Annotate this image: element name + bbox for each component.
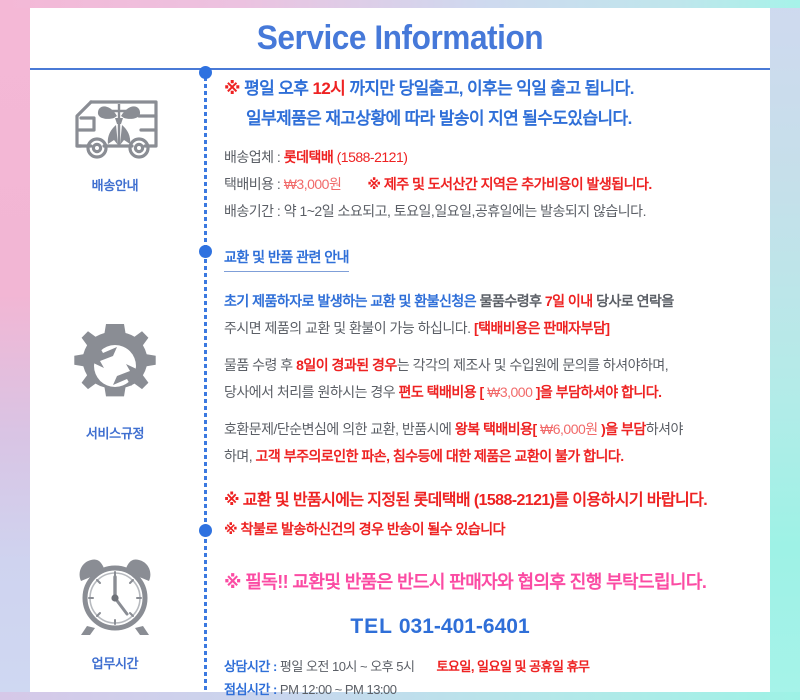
policy-p3-d: )을 부담 bbox=[598, 421, 646, 437]
lunch-label: 점심시간 : bbox=[224, 682, 280, 697]
policy-shipping-burden-tag: [택배비용은 판매자부담] bbox=[474, 320, 610, 336]
policy-p4-a: 하며, bbox=[224, 448, 256, 464]
timeline-dotted-line bbox=[204, 70, 207, 690]
delivery-line1-b: 평일 오후 bbox=[244, 79, 312, 98]
policy-p3-a: 호환문제/단순변심에 의한 교환, 반품시에 bbox=[224, 421, 455, 437]
delivery-section: ※ 평일 오후 12시 까지만 당일출고, 이후는 익일 출고 됩니다. 일부제… bbox=[224, 74, 776, 225]
timeline-dot-policy bbox=[199, 245, 212, 258]
rail-label-delivery: 배송안내 bbox=[30, 175, 200, 194]
carrier-label: 배송업체 : bbox=[224, 149, 284, 165]
policy-heading: 교환 및 반품 관련 안내 bbox=[224, 247, 349, 272]
tel-number[interactable]: 031-401-6401 bbox=[399, 615, 530, 638]
icon-rail: 배송안내 서비스규정 bbox=[30, 72, 200, 692]
policy-p1-line2: 주시면 제품의 교환 및 환불이 가능 하십니다. [택배비용은 판매자부담] bbox=[224, 315, 776, 342]
carrier-phone: (1588-2121) bbox=[333, 149, 407, 165]
fee-label: 택배비용 : bbox=[224, 176, 284, 192]
rail-label-policy: 서비스규정 bbox=[30, 423, 200, 442]
rail-item-policy: 서비스규정 bbox=[30, 320, 200, 442]
delivery-line-2: 일부제품은 재고상황에 따라 발송이 지연 될수도있습니다. bbox=[224, 104, 776, 134]
delivery-line2-text: 일부제품은 재고상황에 따라 발송이 지연 될수도있습니다. bbox=[246, 109, 632, 128]
policy-p2-line1: 물품 수령 후 8일이 경과된 경우는 각각의 제조사 및 수입원에 문의를 하… bbox=[224, 352, 776, 379]
tel-label: TEL bbox=[350, 615, 393, 638]
delivery-fee-row: 택배비용 : ₩3,000원※ 제주 및 도서산간 지역은 추가비용이 발생됩니… bbox=[224, 171, 776, 198]
delivery-truck-gift-icon bbox=[30, 90, 200, 169]
asterisk-mark-1: ※ bbox=[224, 79, 244, 98]
delivery-cutoff-time: 12시 bbox=[312, 79, 345, 98]
consult-hours-row: 상담시간 : 평일 오전 10시 ~ 오후 5시토요일, 일요일 및 공휴일 휴… bbox=[224, 655, 776, 678]
policy-p1-e: 주시면 제품의 교환 및 환불이 가능 하십니다. bbox=[224, 320, 474, 336]
policy-roundtrip-fee-value: ₩6,000원 bbox=[540, 421, 598, 437]
policy-designated-carrier-note: ※ 교환 및 반품시에는 지정된 롯데택배 (1588-2121)를 이용하시기… bbox=[224, 486, 776, 516]
policy-oneway-fee-value: ₩3,000 bbox=[487, 384, 532, 400]
policy-p1-line1: 초기 제품하자로 발생하는 교환 및 환불신청은 물품수령후 7일 이내 당사로… bbox=[224, 288, 776, 315]
fee-value: ₩3,000원 bbox=[284, 176, 342, 192]
page-title: Service Information bbox=[257, 19, 543, 58]
policy-p3-line2: 하며, 고객 부주의로인한 파손, 침수등에 대한 제품은 교환이 불가 합니다… bbox=[224, 443, 776, 470]
rail-item-delivery: 배송안내 bbox=[30, 90, 200, 194]
delivery-line1-d: 까지만 당일출고, 이후는 익일 출고 됩니다. bbox=[345, 79, 634, 98]
timeline-dot-hours bbox=[199, 524, 212, 537]
policy-oneway-fee-label: 편도 택배비용 [ bbox=[399, 384, 488, 400]
policy-return-window: 7일 이내 bbox=[545, 293, 593, 309]
policy-p1-d: 당사로 연락을 bbox=[593, 293, 674, 309]
must-read-notice: ※ 필독!! 교환및 반품은 반드시 판매자와 협의후 진행 부탁드립니다. bbox=[224, 565, 776, 599]
frame-gradient-left bbox=[0, 0, 30, 700]
policy-p3-e: 하셔야 bbox=[646, 421, 683, 437]
page-header: Service Information bbox=[30, 8, 770, 70]
policy-p1-a: 초기 제품하자로 발생하는 교환 및 환불신청은 bbox=[224, 293, 480, 309]
period-label: 배송기간 : bbox=[224, 203, 284, 219]
consult-value: 평일 오전 10시 ~ 오후 5시 bbox=[280, 659, 415, 674]
delivery-carrier-row: 배송업체 : 롯데택배 (1588-2121) bbox=[224, 144, 776, 171]
policy-cod-note: ※ 착불로 발송하신건의 경우 반송이 될수 있습니다 bbox=[224, 516, 776, 543]
content-column: ※ 평일 오후 12시 까지만 당일출고, 이후는 익일 출고 됩니다. 일부제… bbox=[224, 74, 776, 700]
rail-item-hours: 업무시간 bbox=[30, 550, 200, 672]
policy-p2-g: ]을 부담하셔야 합니다. bbox=[532, 384, 661, 400]
policy-p2-line2: 당사에서 처리를 원하시는 경우 편도 택배비용 [ ₩3,000 ]을 부담하… bbox=[224, 379, 776, 406]
hours-section: ※ 필독!! 교환및 반품은 반드시 판매자와 협의후 진행 부탁드립니다. T… bbox=[224, 565, 776, 700]
policy-p2-c: 는 각각의 제조사 및 수입원에 문의를 하셔야하며, bbox=[397, 357, 668, 373]
rail-label-hours: 업무시간 bbox=[30, 653, 200, 672]
policy-p2-a: 물품 수령 후 bbox=[224, 357, 296, 373]
policy-8day-limit: 8일이 경과된 경우 bbox=[296, 357, 397, 373]
delivery-period-row: 배송기간 : 약 1~2일 소요되고, 토요일,일요일,공휴일에는 발송되지 않… bbox=[224, 198, 776, 225]
policy-p2-d: 당사에서 처리를 원하시는 경우 bbox=[224, 384, 399, 400]
period-value: 약 1~2일 소요되고, 토요일,일요일,공휴일에는 발송되지 않습니다. bbox=[284, 203, 646, 219]
closed-days-note: 토요일, 일요일 및 공휴일 휴무 bbox=[414, 659, 589, 674]
service-information-page: Service Information bbox=[0, 0, 800, 700]
frame-gradient-top bbox=[0, 0, 800, 8]
policy-p1-b: 물품수령후 bbox=[480, 293, 545, 309]
delivery-line-1: ※ 평일 오후 12시 까지만 당일출고, 이후는 익일 출고 됩니다. bbox=[224, 74, 776, 104]
lunch-value: PM 12:00 ~ PM 13:00 bbox=[280, 682, 397, 697]
timeline-dot-delivery bbox=[199, 66, 212, 79]
policy-section: 교환 및 반품 관련 안내 초기 제품하자로 발생하는 교환 및 환불신청은 물… bbox=[224, 247, 776, 543]
gear-exchange-arrows-icon bbox=[30, 320, 200, 417]
policy-roundtrip-fee-label: 왕복 택배비용[ bbox=[455, 421, 540, 437]
fee-island-note: ※ 제주 및 도서산간 지역은 추가비용이 발생됩니다. bbox=[341, 176, 651, 192]
alarm-clock-icon bbox=[30, 550, 200, 647]
policy-damage-exclusion: 고객 부주의로인한 파손, 침수등에 대한 제품은 교환이 불가 합니다. bbox=[256, 448, 624, 464]
carrier-name: 롯데택배 bbox=[284, 149, 334, 165]
tel-row: TEL 031-401-6401 bbox=[224, 609, 776, 645]
consult-label: 상담시간 : bbox=[224, 659, 280, 674]
policy-p3-line1: 호환문제/단순변심에 의한 교환, 반품시에 왕복 택배비용[ ₩6,000원 … bbox=[224, 416, 776, 443]
lunch-hours-row: 점심시간 : PM 12:00 ~ PM 13:00 bbox=[224, 678, 776, 700]
